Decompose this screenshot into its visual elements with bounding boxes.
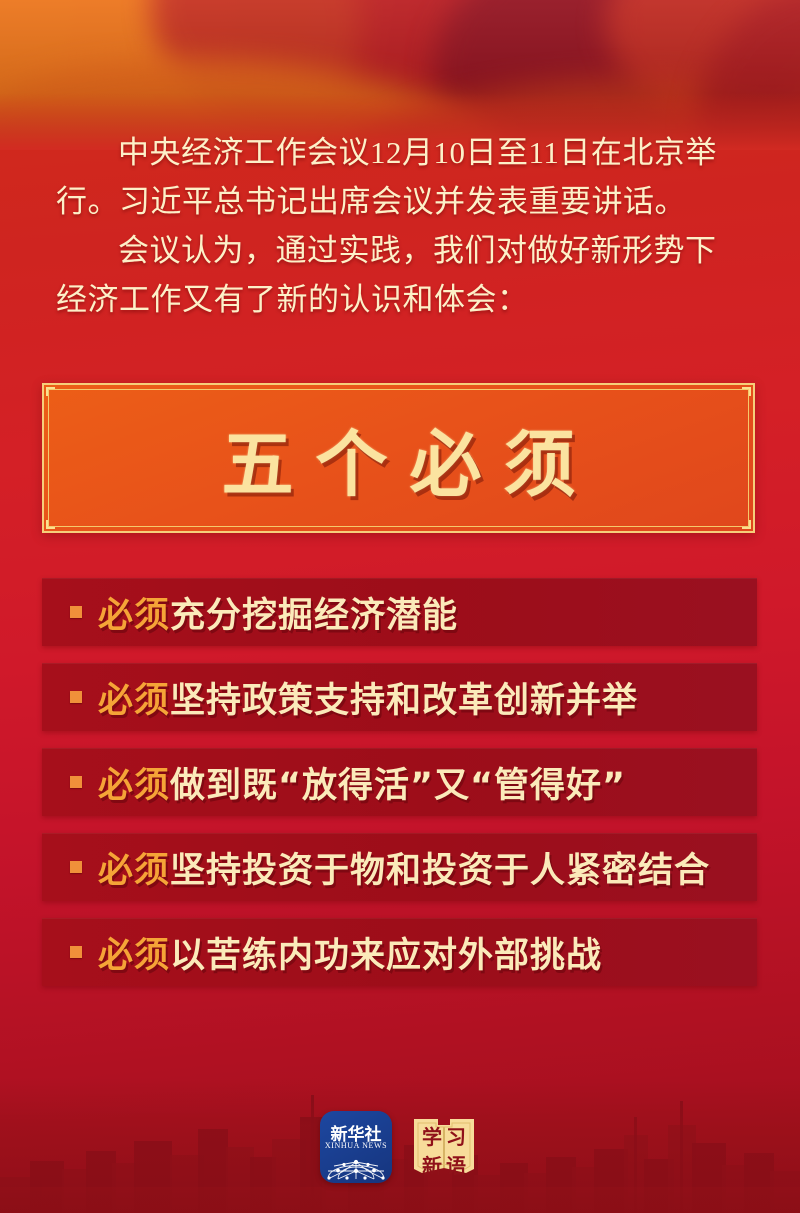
list-item-rest: 坚持政策支持和改革创新并举: [170, 681, 638, 721]
list-item-keyword: 必须: [98, 766, 170, 806]
xuexi-char-1: 学: [422, 1121, 442, 1150]
list-item: 必须坚持投资于物和投资于人紧密结合: [42, 833, 757, 901]
banner-corner-ornament: [46, 520, 55, 529]
footer-logos: 新华社 XINHUA NEWS: [0, 1111, 800, 1183]
list-item: 必须做到既“放得活”又“管得好”: [42, 748, 757, 816]
banner-corner-ornament: [46, 387, 55, 396]
list-item-rest: 以苦练内功来应对外部挑战: [170, 936, 602, 976]
square-bullet-icon: [70, 606, 82, 618]
list-item-rest: 做到既“放得活”又“管得好”: [170, 766, 626, 806]
list-item-text: 必须坚持政策支持和改革创新并举: [98, 672, 638, 723]
banner-corner-ornament: [742, 520, 751, 529]
list-item-rest: 坚持投资于物和投资于人紧密结合: [170, 851, 710, 891]
list-item-text: 必须以苦练内功来应对外部挑战: [98, 927, 602, 978]
list-item-keyword: 必须: [98, 936, 170, 976]
square-bullet-icon: [70, 946, 82, 958]
list-item: 必须充分挖掘经济潜能: [42, 578, 757, 646]
banner-corner-ornament: [742, 387, 751, 396]
poster-root: 中央经济工作会议12月10日至11日在北京举行。习近平总书记出席会议并发表重要讲…: [0, 0, 800, 1213]
list-item: 必须以苦练内功来应对外部挑战: [42, 918, 757, 986]
xuexi-char-2: 习: [446, 1121, 466, 1150]
list-item-text: 必须充分挖掘经济潜能: [98, 587, 458, 638]
list-item-rest: 充分挖掘经济潜能: [170, 596, 458, 636]
list-item: 必须坚持政策支持和改革创新并举: [42, 663, 757, 731]
network-globe-icon: [324, 1149, 388, 1181]
xuexi-char-3: 新: [422, 1150, 442, 1179]
list-item-text: 必须做到既“放得活”又“管得好”: [98, 757, 626, 808]
list-item-keyword: 必须: [98, 851, 170, 891]
list-item-keyword: 必须: [98, 596, 170, 636]
xuexi-characters: 学 习 新 语: [420, 1121, 468, 1167]
intro-paragraph-2: 会议认为，通过实践，我们对做好新形势下经济工作又有了新的认识和体会：: [56, 226, 746, 324]
square-bullet-icon: [70, 776, 82, 788]
square-bullet-icon: [70, 861, 82, 873]
square-bullet-icon: [70, 691, 82, 703]
xinhua-news-logo: 新华社 XINHUA NEWS: [320, 1111, 392, 1183]
requirements-list: 必须充分挖掘经济潜能 必须坚持政策支持和改革创新并举 必须做到既“放得活”又“管…: [42, 578, 757, 1003]
list-item-keyword: 必须: [98, 681, 170, 721]
title-banner: 五个必须: [42, 383, 755, 533]
intro-text-block: 中央经济工作会议12月10日至11日在北京举行。习近平总书记出席会议并发表重要讲…: [56, 128, 746, 324]
xuexi-xinyu-logo: 学 习 新 语: [408, 1111, 480, 1183]
list-item-text: 必须坚持投资于物和投资于人紧密结合: [98, 842, 710, 893]
xuexi-char-4: 语: [446, 1150, 466, 1179]
intro-paragraph-1: 中央经济工作会议12月10日至11日在北京举行。习近平总书记出席会议并发表重要讲…: [56, 128, 746, 226]
page-title: 五个必须: [44, 406, 753, 511]
